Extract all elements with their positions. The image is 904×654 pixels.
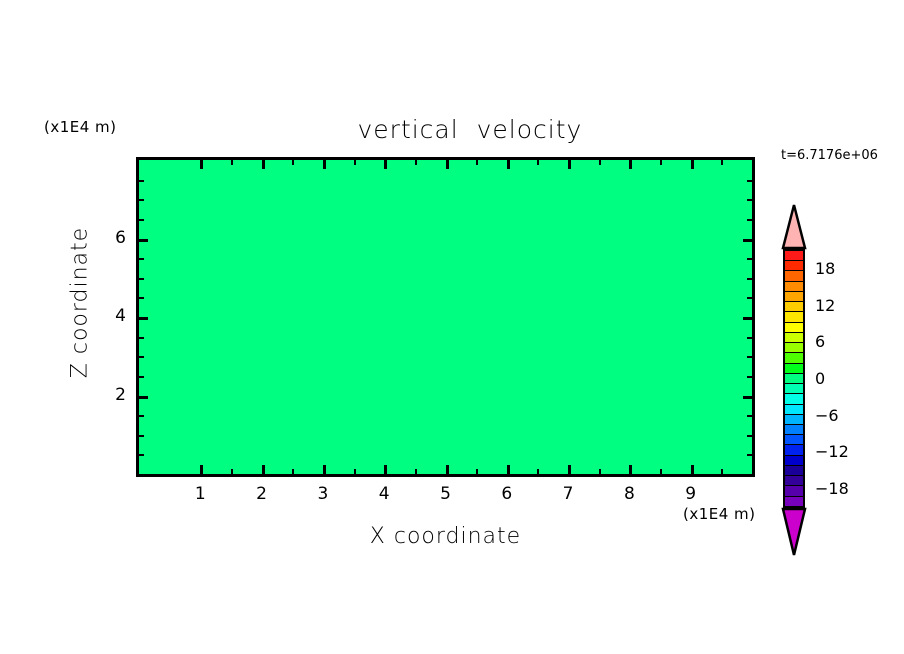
tick-mark [139, 219, 144, 221]
colorbar-band [785, 333, 803, 343]
colorbar-tick-label: 6 [815, 332, 825, 351]
tick-mark [139, 317, 148, 320]
colorbar-tick-label: 0 [815, 369, 825, 388]
colorbar-band [785, 353, 803, 363]
colorbar-bands [783, 249, 805, 509]
colorbar-band [785, 384, 803, 394]
time-annotation: t=6.7176e+06 [781, 148, 878, 163]
tick-mark [476, 160, 478, 165]
tick-mark [354, 160, 356, 165]
x-tick-label: 5 [426, 484, 466, 504]
x-tick-label: 6 [487, 484, 527, 504]
tick-mark [660, 160, 662, 165]
x-axis-unit-label: (x1E4 m) [683, 505, 756, 523]
colorbar-band [785, 456, 803, 466]
colorbar-band [785, 374, 803, 384]
tick-mark [568, 465, 571, 474]
colorbar-over-arrow [779, 204, 809, 250]
contour-plot-area[interactable] [136, 157, 755, 477]
tick-mark [599, 469, 601, 474]
colorbar-under-arrow [779, 507, 809, 557]
tick-mark [262, 465, 265, 474]
over-arrow-icon [779, 204, 809, 250]
tick-mark [691, 465, 694, 474]
tick-mark [415, 160, 417, 165]
tick-mark [747, 258, 752, 260]
tick-mark [292, 160, 294, 165]
tick-mark [139, 239, 148, 242]
tick-mark [629, 465, 632, 474]
plot-title-text: vertical velocity [357, 115, 582, 144]
tick-mark [139, 258, 144, 260]
tick-mark [599, 160, 601, 165]
tick-mark [747, 180, 752, 182]
tick-mark [747, 454, 752, 456]
tick-mark [660, 469, 662, 474]
tick-mark [476, 469, 478, 474]
y-axis-title: Z coordinate [68, 193, 93, 413]
tick-mark [747, 219, 752, 221]
tick-mark [231, 160, 233, 165]
tick-mark [139, 376, 144, 378]
x-tick-label: 1 [180, 484, 220, 504]
x-tick-label: 4 [364, 484, 404, 504]
tick-mark [139, 435, 144, 437]
tick-mark [139, 297, 144, 299]
colorbar-band [785, 394, 803, 404]
tick-mark [139, 396, 148, 399]
tick-mark [139, 415, 144, 417]
tick-mark [743, 317, 752, 320]
colorbar-band [785, 466, 803, 476]
colorbar-band [785, 323, 803, 333]
tick-mark [507, 465, 510, 474]
colorbar-tick-label: 12 [815, 296, 835, 315]
colorbar-tick-label: −12 [815, 442, 849, 461]
colorbar-band [785, 497, 803, 507]
tick-mark [139, 199, 144, 201]
tick-mark [747, 297, 752, 299]
colorbar-band [785, 251, 803, 261]
tick-mark [231, 469, 233, 474]
tick-mark [139, 337, 144, 339]
x-tick-label: 7 [548, 484, 588, 504]
y-axis-unit-label: (x1E4 m) [44, 118, 117, 136]
x-tick-label: 8 [609, 484, 649, 504]
colorbar-tick-label: −6 [815, 406, 839, 425]
tick-mark [743, 239, 752, 242]
colorbar-band [785, 364, 803, 374]
colorbar-band [785, 435, 803, 445]
x-tick-label: 3 [303, 484, 343, 504]
tick-mark [747, 278, 752, 280]
tick-mark [537, 160, 539, 165]
tick-mark [384, 160, 387, 169]
tick-mark [139, 454, 144, 456]
colorbar-band [785, 282, 803, 292]
tick-mark [384, 465, 387, 474]
tick-mark [568, 160, 571, 169]
tick-mark [262, 160, 265, 169]
figure-canvas: vertical velocity (x1E4 m) t=6.7176e+06 … [0, 0, 904, 654]
tick-mark [139, 278, 144, 280]
tick-mark [537, 469, 539, 474]
tick-mark [323, 465, 326, 474]
tick-mark [507, 160, 510, 169]
tick-mark [200, 465, 203, 474]
tick-mark [292, 469, 294, 474]
colorbar-band [785, 445, 803, 455]
tick-mark [200, 160, 203, 169]
tick-mark [743, 396, 752, 399]
colorbar-band [785, 261, 803, 271]
contour-field [139, 160, 752, 474]
x-axis-title: X coordinate [136, 524, 755, 549]
x-tick-label: 2 [242, 484, 282, 504]
tick-mark [747, 435, 752, 437]
tick-mark [139, 180, 144, 182]
colorbar-band [785, 302, 803, 312]
tick-mark [354, 469, 356, 474]
tick-mark [747, 337, 752, 339]
x-tick-label: 9 [671, 484, 711, 504]
tick-mark [415, 469, 417, 474]
tick-mark [139, 356, 144, 358]
tick-mark [747, 376, 752, 378]
colorbar-band [785, 292, 803, 302]
tick-mark [721, 469, 723, 474]
tick-mark [446, 160, 449, 169]
colorbar-band [785, 415, 803, 425]
tick-mark [747, 199, 752, 201]
colorbar-band [785, 476, 803, 486]
tick-mark [747, 415, 752, 417]
tick-mark [446, 465, 449, 474]
colorbar-band [785, 486, 803, 496]
colorbar-tick-label: −18 [815, 479, 849, 498]
colorbar-band [785, 343, 803, 353]
colorbar-band [785, 312, 803, 322]
colorbar-band [785, 271, 803, 281]
tick-mark [747, 356, 752, 358]
tick-mark [629, 160, 632, 169]
under-arrow-icon [779, 507, 809, 557]
tick-mark [323, 160, 326, 169]
tick-mark [691, 160, 694, 169]
colorbar-band [785, 425, 803, 435]
colorbar-tick-label: 18 [815, 259, 835, 278]
colorbar-band [785, 405, 803, 415]
tick-mark [721, 160, 723, 165]
